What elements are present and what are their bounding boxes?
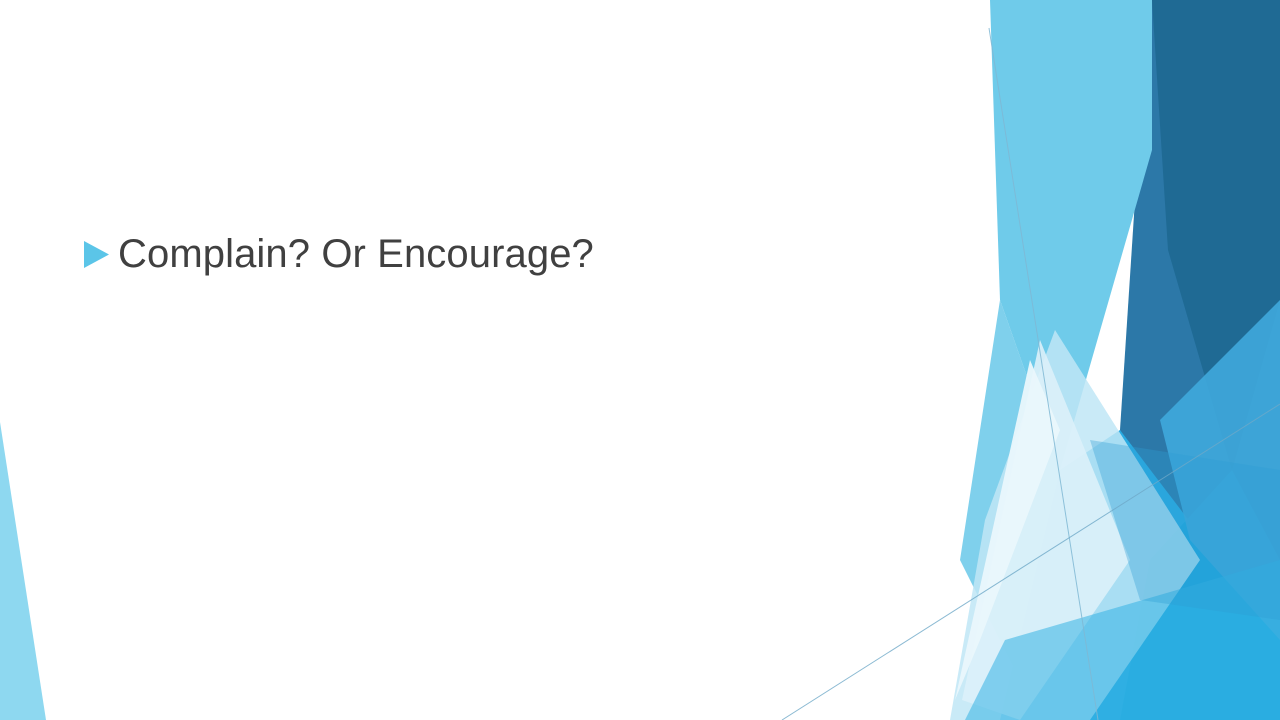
slide-body-placeholder[interactable]: Complain? Or Encourage? bbox=[78, 228, 898, 280]
triangle-right-bullet-icon bbox=[78, 228, 118, 280]
decor-shape-azure-lower-right bbox=[1000, 430, 1280, 720]
decor-shape-bottom-left-sliver bbox=[0, 422, 46, 720]
background-decoration bbox=[0, 0, 1280, 720]
decor-shape-light-blue-band bbox=[990, 0, 1152, 470]
decor-shape-deep-blue-wedge bbox=[1152, 0, 1280, 470]
decor-hairline-upper-diagonal bbox=[989, 28, 1098, 720]
decor-shape-cool-overlay-mid bbox=[1090, 440, 1280, 620]
decor-shape-light-blue-lower bbox=[960, 300, 1160, 720]
decor-hairline-long-diagonal bbox=[782, 404, 1280, 720]
decor-shape-pale-wedge-large bbox=[950, 330, 1200, 720]
bullet-text: Complain? Or Encourage? bbox=[118, 228, 898, 280]
list-item[interactable]: Complain? Or Encourage? bbox=[78, 228, 898, 280]
slide-canvas: Complain? Or Encourage? bbox=[0, 0, 1280, 720]
decor-shape-azure-translucent-bottom bbox=[965, 560, 1280, 720]
decor-shape-right-dark-field bbox=[1120, 0, 1280, 720]
decor-shape-pale-sliver-edge bbox=[955, 360, 1060, 700]
decor-shape-mid-blue-facet bbox=[1160, 300, 1280, 640]
decor-shape-bright-azure-bottom bbox=[1120, 470, 1280, 720]
decor-shape-pale-wedge-overlay bbox=[962, 340, 1130, 720]
